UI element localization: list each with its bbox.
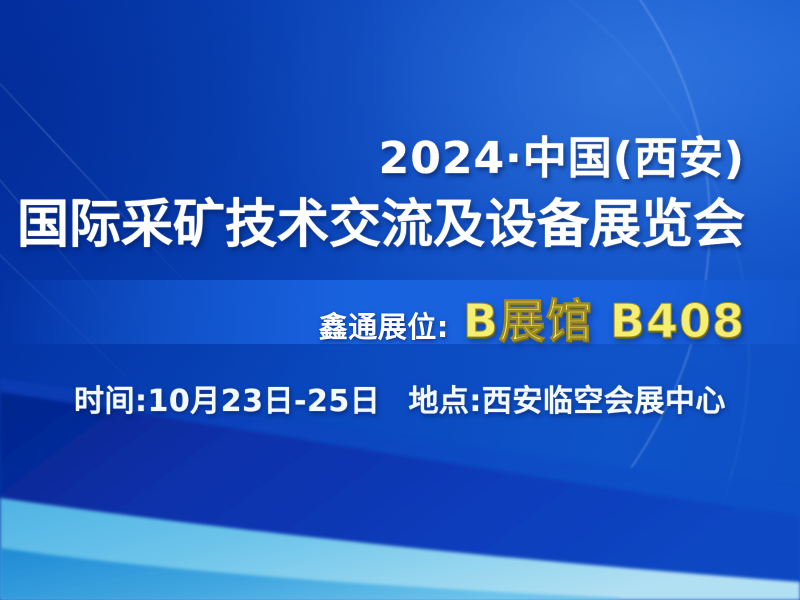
- booth-number: B展馆 B408: [463, 285, 745, 351]
- poster-title-line-1: 2024·中国(西安): [379, 122, 745, 186]
- booth-info-row: 鑫通展位: B展馆 B408: [319, 285, 745, 351]
- booth-label: 鑫通展位:: [319, 304, 449, 346]
- event-date: 时间:10月23日-25日: [74, 376, 380, 420]
- event-venue: 地点:西安临空会展中心: [408, 376, 726, 420]
- poster-content: 2024·中国(西安) 国际采矿技术交流及设备展览会 鑫通展位: B展馆 B40…: [0, 0, 800, 600]
- event-info-row: 时间:10月23日-25日 地点:西安临空会展中心: [0, 376, 800, 420]
- poster-title-line-2: 国际采矿技术交流及设备展览会: [17, 182, 745, 257]
- expo-poster: 2024·中国(西安) 国际采矿技术交流及设备展览会 鑫通展位: B展馆 B40…: [0, 0, 800, 600]
